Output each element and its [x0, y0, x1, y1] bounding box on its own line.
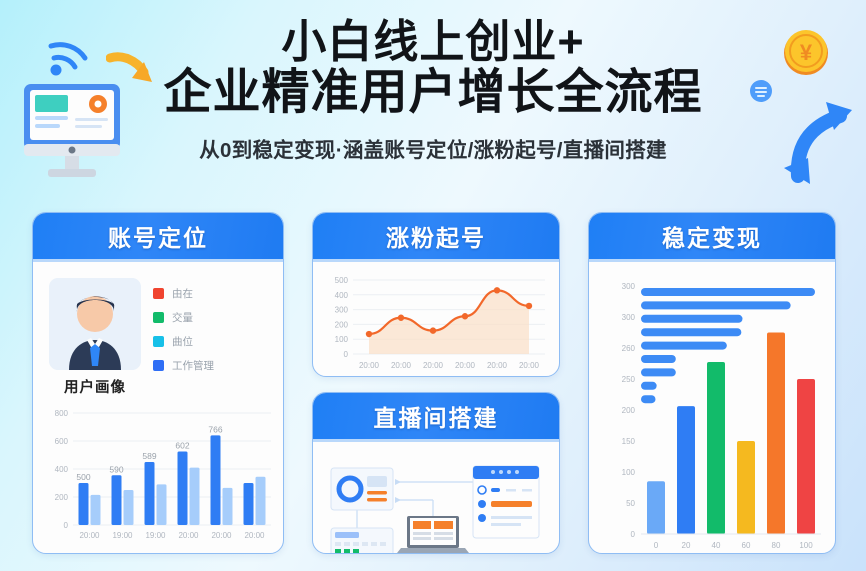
- card-live-title: 直播间搭建: [374, 399, 499, 433]
- svg-text:100: 100: [799, 541, 813, 550]
- legend-label: 曲位: [172, 334, 193, 349]
- svg-text:602: 602: [175, 441, 189, 451]
- card-account-positioning[interactable]: 账号定位 用户画像: [32, 212, 284, 554]
- svg-text:600: 600: [55, 437, 69, 446]
- fans-line-chart: 010020030040050020:0020:0020:0020:0020:0…: [323, 272, 551, 377]
- svg-text:20:00: 20:00: [391, 361, 412, 370]
- card-account-header: 账号定位: [33, 213, 283, 262]
- svg-text:19:00: 19:00: [145, 531, 166, 540]
- account-bar-chart: 020040060080050020:0059019:0058919:00602…: [43, 403, 275, 554]
- svg-text:400: 400: [335, 291, 349, 300]
- legend-label: 由在: [172, 286, 193, 301]
- title-line-2: 企业精准用户增长全流程: [0, 68, 866, 119]
- title-line-1: 小白线上创业+: [0, 18, 866, 66]
- svg-text:50: 50: [626, 499, 635, 508]
- legend-color-chip: [153, 312, 164, 323]
- card-account-title: 账号定位: [108, 219, 208, 253]
- card-money-header: 稳定变现: [589, 213, 835, 262]
- svg-text:260: 260: [622, 344, 636, 353]
- svg-text:250: 250: [622, 375, 636, 384]
- card-live-room[interactable]: 直播间搭建: [312, 392, 560, 554]
- svg-text:0: 0: [64, 521, 69, 530]
- card-live-body: [313, 442, 559, 554]
- svg-text:300: 300: [335, 306, 349, 315]
- legend-label: 工作管理: [172, 358, 214, 373]
- money-combo-chart: 300300260250200150100500020406080100: [599, 272, 827, 554]
- card-fans-growth[interactable]: 涨粉起号 010020030040050020:0020:0020:0020:0…: [312, 212, 560, 377]
- svg-text:200: 200: [335, 320, 349, 329]
- svg-text:20:00: 20:00: [455, 361, 476, 370]
- legend-label: 交量: [172, 310, 193, 325]
- svg-text:589: 589: [142, 451, 156, 461]
- svg-text:60: 60: [742, 541, 751, 550]
- svg-text:300: 300: [622, 313, 636, 322]
- calendar-panel-node: [331, 528, 393, 554]
- list-panel-node: [473, 466, 539, 538]
- card-fans-header: 涨粉起号: [313, 213, 559, 262]
- svg-text:20:00: 20:00: [178, 531, 199, 540]
- legend-color-chip: [153, 360, 164, 371]
- svg-text:0: 0: [631, 530, 636, 539]
- legend-color-chip: [153, 288, 164, 299]
- poster-canvas: ¥ 小白线上创业+ 企业精准用户增长全流程 从0到稳定变现·涵盖账号定位/涨粉起…: [0, 0, 866, 571]
- svg-text:80: 80: [772, 541, 781, 550]
- svg-text:300: 300: [622, 282, 636, 291]
- svg-text:590: 590: [109, 464, 123, 474]
- svg-text:0: 0: [344, 350, 349, 359]
- svg-text:20:00: 20:00: [423, 361, 444, 370]
- legend-item: 工作管理: [153, 358, 214, 373]
- card-fans-body: 010020030040050020:0020:0020:0020:0020:0…: [313, 262, 559, 377]
- svg-text:500: 500: [76, 472, 90, 482]
- svg-text:200: 200: [622, 406, 636, 415]
- svg-text:20:00: 20:00: [244, 531, 265, 540]
- laptop-node: [397, 516, 469, 553]
- persona-block: 用户画像 由在 交量 曲位: [43, 272, 273, 397]
- svg-text:20:00: 20:00: [211, 531, 232, 540]
- svg-text:19:00: 19:00: [112, 531, 133, 540]
- avatar-wrap: 用户画像: [49, 278, 141, 397]
- live-room-diagram: [323, 452, 551, 554]
- svg-text:100: 100: [335, 335, 349, 344]
- svg-text:20:00: 20:00: [487, 361, 508, 370]
- svg-text:20: 20: [682, 541, 691, 550]
- persona-legend: 由在 交量 曲位 工作管理: [153, 278, 214, 397]
- svg-text:800: 800: [55, 409, 69, 418]
- svg-text:400: 400: [55, 465, 69, 474]
- svg-text:150: 150: [622, 437, 636, 446]
- legend-item: 曲位: [153, 334, 214, 349]
- donut-panel-node: [331, 468, 393, 510]
- svg-text:20:00: 20:00: [359, 361, 380, 370]
- legend-color-chip: [153, 336, 164, 347]
- hero-section: 小白线上创业+ 企业精准用户增长全流程 从0到稳定变现·涵盖账号定位/涨粉起号/…: [0, 18, 866, 163]
- legend-item: 交量: [153, 310, 214, 325]
- card-account-body: 用户画像 由在 交量 曲位: [33, 262, 283, 554]
- svg-text:40: 40: [712, 541, 721, 550]
- svg-text:766: 766: [208, 424, 222, 434]
- card-money-title: 稳定变现: [662, 219, 762, 253]
- svg-text:500: 500: [335, 276, 349, 285]
- card-fans-title: 涨粉起号: [386, 219, 486, 253]
- legend-item: 由在: [153, 286, 214, 301]
- svg-text:100: 100: [622, 468, 636, 477]
- card-money-body: 300300260250200150100500020406080100: [589, 262, 835, 554]
- persona-caption: 用户画像: [49, 376, 141, 397]
- svg-text:0: 0: [654, 541, 659, 550]
- card-monetization[interactable]: 稳定变现 30030026025020015010050002040608010…: [588, 212, 836, 554]
- svg-text:200: 200: [55, 493, 69, 502]
- svg-text:20:00: 20:00: [79, 531, 100, 540]
- avatar: [49, 278, 141, 370]
- hero-subtitle: 从0到稳定变现·涵盖账号定位/涨粉起号/直播间搭建: [0, 133, 866, 163]
- svg-text:20:00: 20:00: [519, 361, 540, 370]
- card-live-header: 直播间搭建: [313, 393, 559, 442]
